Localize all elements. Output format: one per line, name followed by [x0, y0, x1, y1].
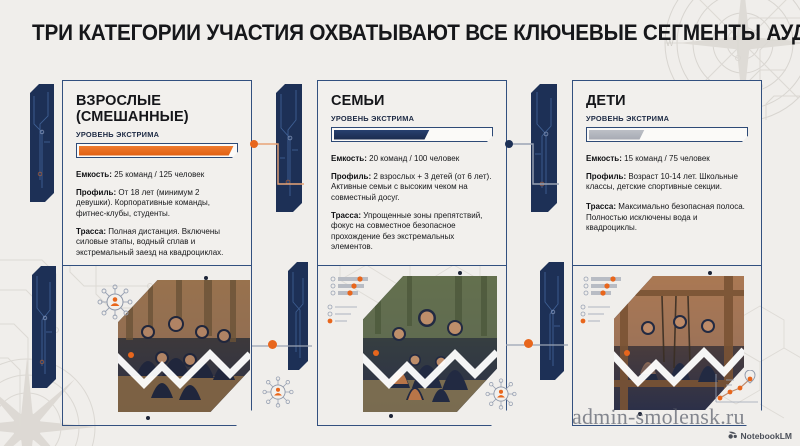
- capacity-value-families: 20 команд / 100 человек: [369, 154, 459, 163]
- extreme-level-bar-fill-children: [589, 130, 645, 140]
- navy-accent-bar-bottom-left: [32, 266, 56, 388]
- card-title-families: СЕМЬИ: [331, 93, 493, 109]
- profile-label-adults: Профиль:: [76, 188, 116, 197]
- card-title-adults: ВЗРОСЛЫЕ (СМЕШАННЫЕ): [76, 93, 238, 125]
- capacity-label-adults: Емкость:: [76, 170, 112, 179]
- connector-dot-photo-families: [524, 339, 533, 348]
- card-extreme-label-adults: УРОВЕНЬ ЭКСТРИМА: [76, 130, 238, 139]
- card-capacity-adults: Емкость: 25 команд / 125 человек: [76, 170, 238, 181]
- track-label-children: Трасса:: [586, 202, 616, 211]
- person-hub-icon-adults-bottom: [262, 376, 294, 408]
- photo-corner-dot-adults-left: [128, 352, 134, 358]
- category-card-children[interactable]: ДЕТИ УРОВЕНЬ ЭКСТРИМА Емкость: 15 команд…: [572, 80, 762, 266]
- card-capacity-families: Емкость: 20 команд / 100 человек: [331, 154, 493, 165]
- card-profile-adults: Профиль: От 18 лет (минимум 2 девушки). …: [76, 188, 238, 220]
- photo-panel-children: [572, 262, 762, 426]
- extreme-level-bar-adults: [76, 143, 238, 158]
- navy-accent-bar-left: [30, 84, 54, 202]
- connector-dot-families: [505, 140, 513, 148]
- photo-corner-dot-children-tr: [708, 271, 712, 275]
- capacity-value-children: 15 команд / 75 человек: [624, 154, 710, 163]
- photo-panel-families: [317, 262, 507, 426]
- card-track-adults: Трасса: Полная дистанция. Включены силов…: [76, 227, 238, 259]
- person-hub-icon-families: [485, 378, 517, 410]
- card-title-children: ДЕТИ: [586, 93, 748, 109]
- list-decoration-children: [580, 304, 618, 324]
- extreme-level-bar-fill-families: [334, 130, 430, 140]
- connector-dot-adults: [250, 140, 258, 148]
- photo-corner-dot-families-left: [373, 350, 379, 356]
- page-title-wrapper: ТРИ КАТЕГОРИИ УЧАСТИЯ ОХВАТЫВАЮТ ВСЕ КЛЮ…: [0, 20, 800, 46]
- card-extreme-label-families: УРОВЕНЬ ЭКСТРИМА: [331, 114, 493, 123]
- photo-corner-dot-adults-bl: [146, 416, 150, 420]
- photo-corner-dot-families-tr: [458, 271, 462, 275]
- notebooklm-icon: [727, 430, 738, 441]
- track-label-adults: Трасса:: [76, 227, 106, 236]
- capacity-label-families: Емкость:: [331, 154, 367, 163]
- page-title: ТРИ КАТЕГОРИИ УЧАСТИЯ ОХВАТЫВАЮТ ВСЕ КЛЮ…: [32, 20, 768, 46]
- navy-accent-bar-bottom-right: [540, 262, 564, 380]
- photo-corner-dot-children-left: [624, 350, 630, 356]
- extreme-level-bar-children: [586, 127, 748, 142]
- card-capacity-children: Емкость: 15 команд / 75 человек: [586, 154, 748, 165]
- card-extreme-label-children: УРОВЕНЬ ЭКСТРИМА: [586, 114, 748, 123]
- slider-decoration-children: [582, 276, 624, 298]
- profile-label-families: Профиль:: [331, 172, 371, 181]
- track-label-families: Трасса:: [331, 211, 361, 220]
- card-track-children: Трасса: Максимально безопасная полоса. П…: [586, 202, 748, 234]
- card-profile-children: Профиль: Возраст 10-14 лет. Школьные кла…: [586, 172, 748, 193]
- navy-accent-bar-bottom-mid: [288, 262, 308, 370]
- category-card-families[interactable]: СЕМЬИ УРОВЕНЬ ЭКСТРИМА Емкость: 20 коман…: [317, 80, 507, 266]
- list-decoration-families: [327, 304, 365, 324]
- card-track-families: Трасса: Упрощенные зоны препятствий, фок…: [331, 211, 493, 254]
- person-hub-icon-adults-top: [97, 284, 133, 320]
- site-watermark: admin-smolensk.ru: [572, 404, 745, 430]
- card-profile-families: Профиль: 2 взрослых + 3 детей (от 6 лет)…: [331, 172, 493, 204]
- extreme-level-bar-fill-adults: [79, 146, 234, 156]
- slider-decoration-families: [329, 276, 371, 298]
- notebooklm-footer: NotebookLM: [727, 430, 792, 441]
- capacity-label-children: Емкость:: [586, 154, 622, 163]
- connector-dot-photo-adults: [268, 340, 277, 349]
- extreme-level-bar-families: [331, 127, 493, 142]
- profile-label-children: Профиль:: [586, 172, 626, 181]
- connector-line-photo-adults: [252, 344, 312, 348]
- connector-line-photo-families: [506, 343, 568, 347]
- category-card-adults[interactable]: ВЗРОСЛЫЕ (СМЕШАННЫЕ) УРОВЕНЬ ЭКСТРИМА Ем…: [62, 80, 252, 266]
- notebooklm-label: NotebookLM: [741, 431, 792, 441]
- capacity-value-adults: 25 команд / 125 человек: [114, 170, 204, 179]
- photo-panel-adults: [62, 266, 252, 426]
- photo-corner-dot-families-bl: [389, 414, 393, 418]
- photo-corner-dot-adults-tr: [204, 276, 208, 280]
